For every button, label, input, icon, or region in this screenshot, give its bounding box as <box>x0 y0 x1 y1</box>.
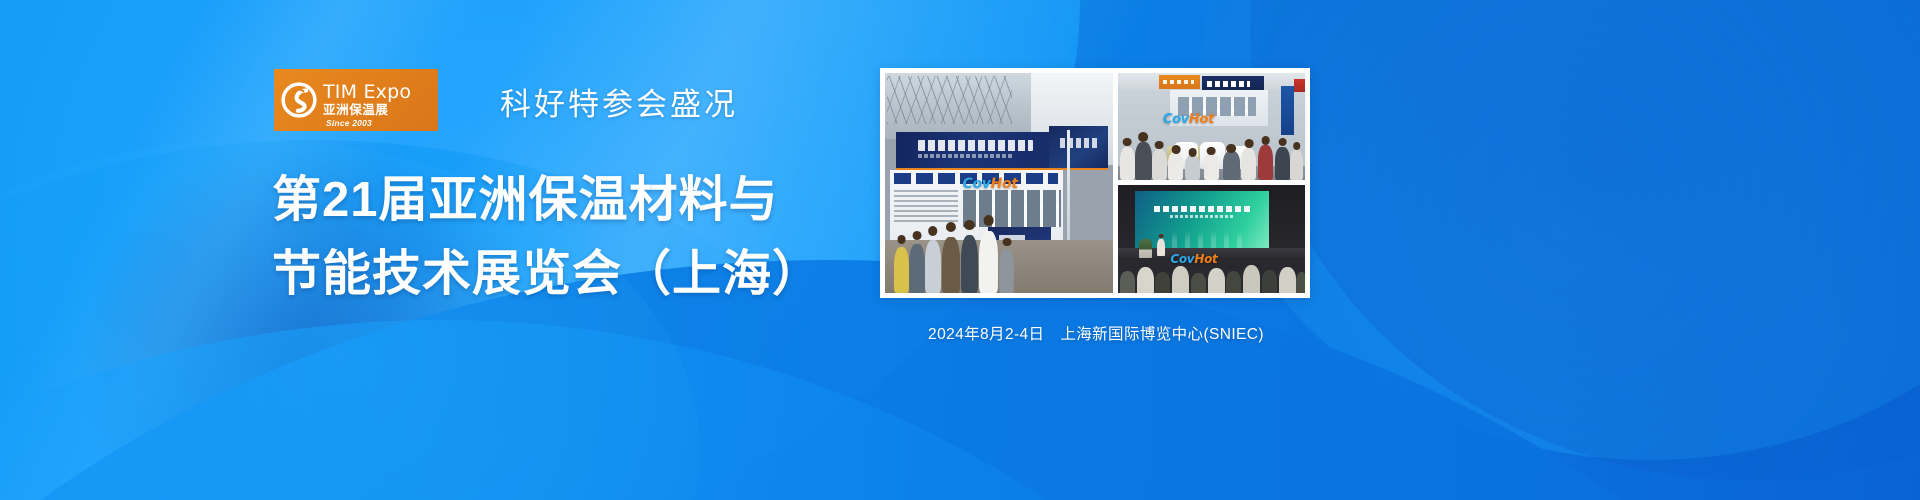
sub-headline: 科好特参会盛况 <box>500 79 738 124</box>
brand-logo-latin-name: TIM Expo <box>323 83 411 102</box>
booth-side-banner <box>1049 126 1108 170</box>
ceiling-truss <box>887 76 1012 124</box>
brand-logo[interactable]: TIM Expo 亚洲保温展 Since 2003 <box>274 69 438 131</box>
screen-subtitle-text <box>1170 215 1235 218</box>
banner-text-column: TIM Expo 亚洲保温展 Since 2003 科好特参会盛况 第21届亚洲… <box>0 0 880 500</box>
presentation-screen <box>1135 191 1270 247</box>
tim-expo-swirl-icon <box>280 81 318 119</box>
photo-collage: CovHot <box>880 68 1310 298</box>
collage-right-column: CovHot <box>1118 73 1305 293</box>
brand-logo-chinese-name: 亚洲保温展 <box>323 104 411 117</box>
exhibition-booth-photo[interactable]: CovHot <box>885 73 1113 293</box>
brand-logo-since: Since 2003 <box>326 118 372 128</box>
booth-visitors <box>890 205 1109 293</box>
aisle-crowd <box>1118 122 1305 180</box>
event-info: 2024年8月2-4日 上海新国际博览中心(SNIEC) <box>880 322 1312 344</box>
photo-watermark: CovHot <box>1163 112 1214 127</box>
screen-skyline-graphic <box>1159 231 1245 248</box>
photo-watermark: CovHot <box>1170 252 1217 266</box>
screen-title-text <box>1154 206 1251 212</box>
booth-header-banner <box>896 132 1060 169</box>
conference-forum-photo[interactable]: CovHot <box>1118 185 1305 293</box>
photo-watermark: CovHot <box>963 176 1018 192</box>
orange-booth-sign <box>1159 75 1200 89</box>
exhibition-banner: TIM Expo 亚洲保温展 Since 2003 科好特参会盛况 第21届亚洲… <box>0 0 1920 500</box>
page-title: 第21届亚洲保温材料与 节能技术展览会（上海） <box>272 163 822 311</box>
trade-show-aisle-photo[interactable]: CovHot <box>1118 73 1305 180</box>
page-title-line-2: 节能技术展览会（上海） <box>272 237 822 311</box>
red-booth-sign <box>1294 79 1305 92</box>
page-title-line-1: 第21届亚洲保温材料与 <box>272 163 822 237</box>
